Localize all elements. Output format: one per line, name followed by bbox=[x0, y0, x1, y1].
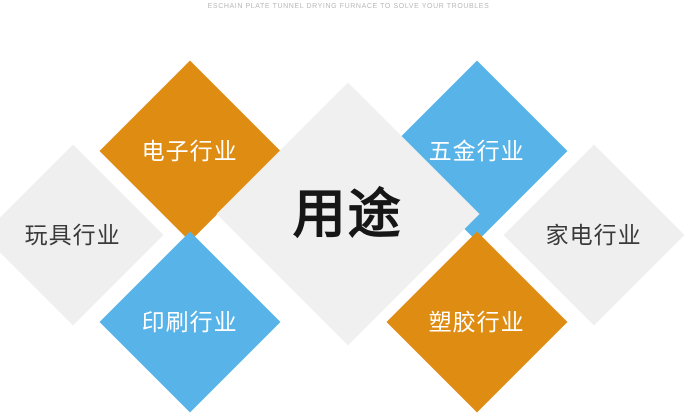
diagram-node-plastic-label: 塑胶行业 bbox=[429, 311, 525, 334]
diagram-node-appliance-label: 家电行业 bbox=[546, 224, 642, 247]
diagram-node-toys-label: 玩具行业 bbox=[25, 224, 121, 247]
usage-diagram: 电子行业 五金行业 玩具行业 家电行业 印刷行业 塑胶行业 用途 bbox=[0, 16, 697, 414]
diagram-node-hardware-label: 五金行业 bbox=[429, 140, 525, 163]
diagram-node-printing-label: 印刷行业 bbox=[142, 311, 238, 334]
header-banner: ESCHAIN PLATE TUNNEL DRYING FURNACE TO S… bbox=[0, 0, 697, 16]
diagram-node-center-label: 用途 bbox=[293, 188, 403, 241]
header-banner-text: ESCHAIN PLATE TUNNEL DRYING FURNACE TO S… bbox=[0, 3, 697, 10]
diagram-node-electronics-label: 电子行业 bbox=[142, 140, 238, 163]
